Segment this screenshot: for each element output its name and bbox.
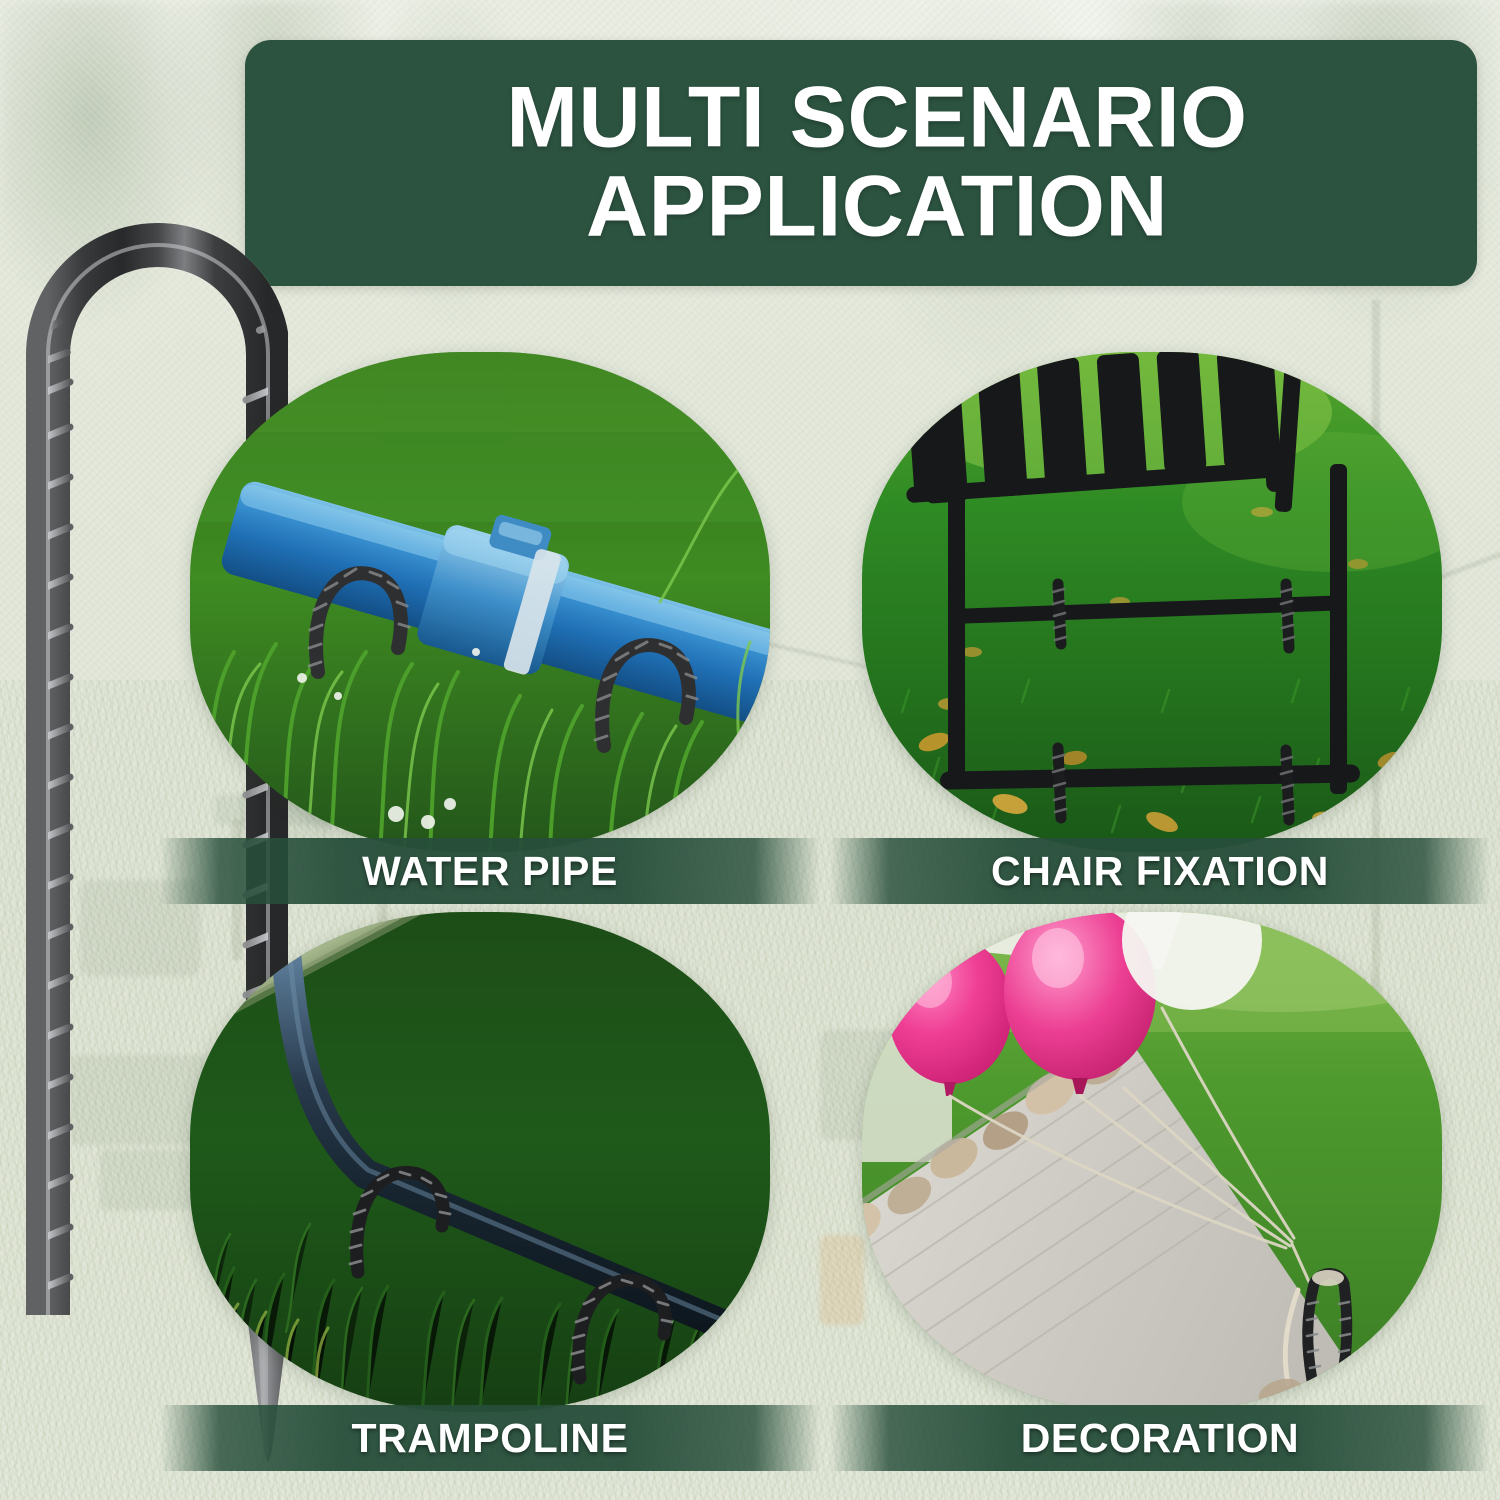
caption-chair-fixation: CHAIR FIXATION (830, 838, 1490, 904)
title-banner: MULTI SCENARIO APPLICATION (245, 40, 1477, 286)
caption-decoration: DECORATION (830, 1405, 1490, 1471)
panel-decoration-image (862, 912, 1442, 1412)
panel-trampoline[interactable] (190, 912, 770, 1412)
caption-label-trampoline: TRAMPOLINE (160, 1415, 820, 1462)
panel-trampoline-image (190, 912, 770, 1412)
caption-label-chair-fixation: CHAIR FIXATION (830, 848, 1490, 895)
panel-chair-fixation[interactable] (862, 352, 1442, 852)
caption-water-pipe: WATER PIPE (160, 838, 820, 904)
page-title-line1: MULTI SCENARIO (305, 74, 1449, 163)
infographic-canvas: MULTI SCENARIO APPLICATION (0, 0, 1500, 1500)
caption-label-water-pipe: WATER PIPE (160, 848, 820, 895)
panel-water-pipe[interactable] (190, 352, 770, 852)
page-title-line2: APPLICATION (305, 163, 1449, 252)
caption-trampoline: TRAMPOLINE (160, 1405, 820, 1471)
panel-decoration[interactable] (862, 912, 1442, 1412)
page-title: MULTI SCENARIO APPLICATION (245, 74, 1477, 253)
panel-chair-fixation-image (862, 352, 1442, 852)
caption-label-decoration: DECORATION (830, 1415, 1490, 1462)
panel-water-pipe-image (190, 352, 770, 852)
